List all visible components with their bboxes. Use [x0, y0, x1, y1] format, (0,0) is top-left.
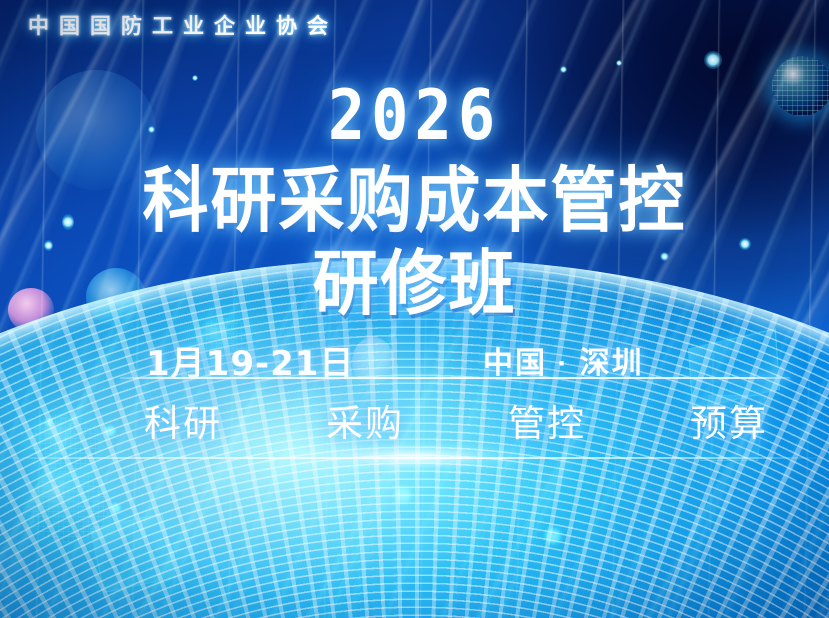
keyword-item: 科研 [144, 393, 222, 447]
light-dot-12 [392, 484, 414, 506]
event-location: 中国 · 深圳 [483, 338, 644, 382]
decorative-globe-bottom-left-2 [28, 470, 108, 542]
crystal-shape-left [90, 513, 176, 593]
poster-title-line-2: 研修班 [0, 226, 829, 330]
poster-canvas: 中国国防工业企业协会 2026 科研采购成本管控 研修班 1月19-21日 中国… [0, 0, 829, 618]
decorative-globe-bottom-left [30, 414, 98, 474]
light-dot-8 [560, 66, 567, 73]
keyword-item: 管控 [508, 393, 586, 447]
keyword-item: 采购 [326, 393, 404, 447]
horizon-light-line [0, 457, 829, 459]
keyword-item: 预算 [690, 393, 768, 447]
light-dot-14 [110, 502, 122, 514]
light-dot-7 [704, 51, 722, 69]
organization-name: 中国国防工业企业协会 [28, 10, 338, 40]
light-dot-5 [103, 424, 117, 438]
light-dot-13 [543, 525, 563, 547]
event-meta-row: 1月19-21日 中国 · 深圳 [120, 336, 790, 380]
light-dot-4 [44, 418, 54, 428]
light-dot-10 [616, 60, 622, 66]
keyword-row: 科研 采购 管控 预算 [120, 392, 790, 448]
meta-divider [120, 377, 790, 379]
